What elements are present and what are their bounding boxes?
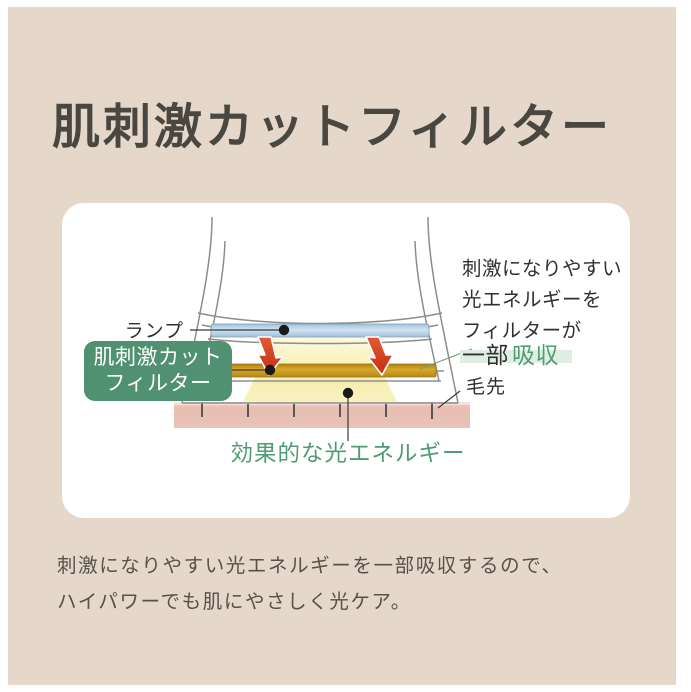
diagram-card: 肌刺激カット フィルター ランプ 毛先 刺激になりやすい 光エネルギーを フィル… [62,203,630,518]
hair-tip-label: 毛先 [466,376,506,398]
caption-line-1: 刺激になりやすい光エネルギーを一部吸収するので、 [57,548,657,584]
dot-lamp [279,325,289,335]
dot-filter [265,365,275,375]
absorb-callout-line4-accent: 吸収 [512,342,559,368]
dot-effective-light [343,388,353,398]
device-diagram: 肌刺激カット フィルター ランプ 毛先 刺激になりやすい 光エネルギーを フィル… [62,203,630,518]
filter-badge: 肌刺激カット フィルター [84,341,232,401]
absorb-callout: 刺激になりやすい 光エネルギーを フィルターが 一部 吸収 [460,258,622,368]
caption-line-2: ハイパワーでも肌にやさしく光ケア。 [57,584,657,620]
filter-badge-line1: 肌刺激カット [94,346,223,369]
page-title: 肌刺激カットフィルター [52,100,652,155]
lamp-label: ランプ [125,320,184,342]
absorb-callout-line4-plain: 一部 [462,342,509,368]
effective-light-label: 効果的な光エネルギー [230,441,465,466]
filter-badge-line2: フィルター [104,372,211,395]
absorb-callout-line2: 光エネルギーを [462,289,602,311]
caption-block: 刺激になりやすい光エネルギーを一部吸収するので、 ハイパワーでも肌にやさしく光ケ… [57,548,657,620]
absorb-callout-line1: 刺激になりやすい [462,258,622,280]
skin-layer [174,402,470,428]
poster-root: 肌刺激カットフィルター [0,0,691,692]
absorb-callout-line3: フィルターが [462,320,582,342]
